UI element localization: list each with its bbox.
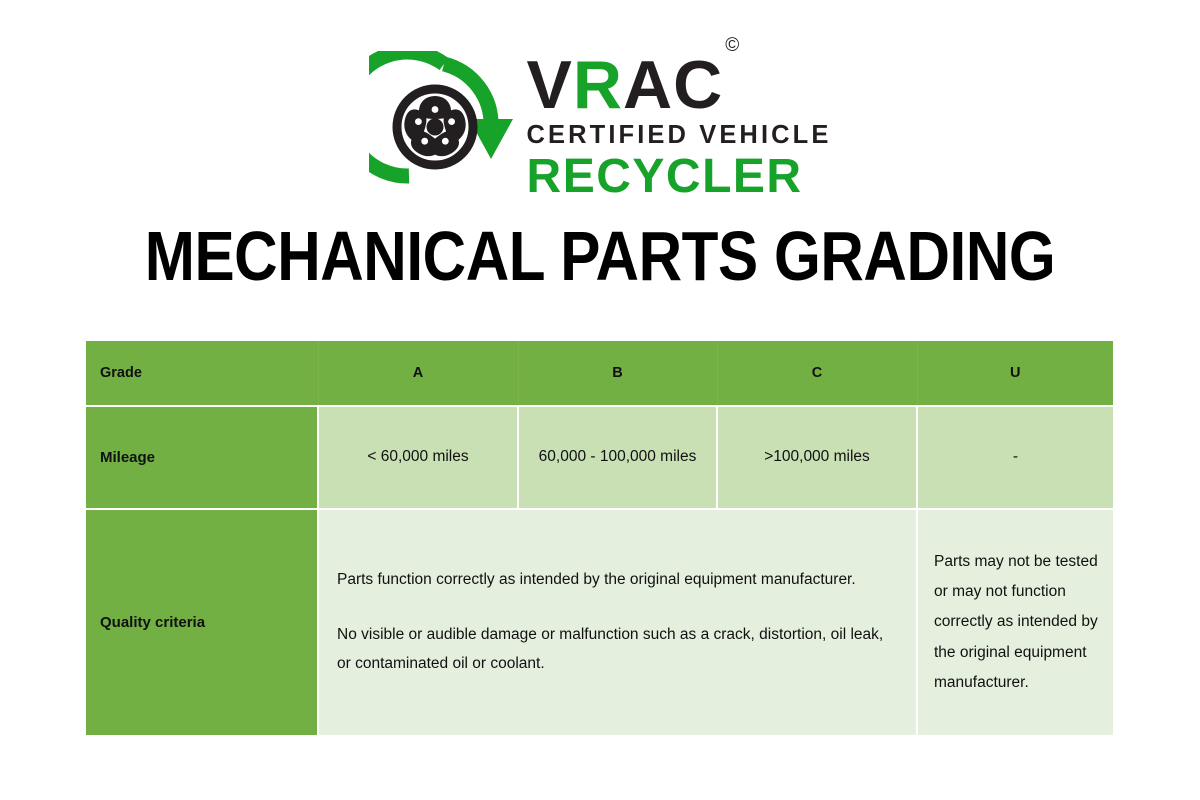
quality-u-text: Parts may not be tested or may not funct… [918, 547, 1113, 698]
table-row-quality-criteria: Quality criteria Parts function correctl… [86, 509, 1113, 735]
quality-paragraph-1: Parts function correctly as intended by … [337, 566, 898, 595]
row-label-quality-criteria: Quality criteria [86, 509, 318, 735]
quality-criteria-text: Parts function correctly as intended by … [319, 566, 916, 678]
logo-brand-ac: AC [623, 47, 723, 123]
logo-brand-r: R [573, 47, 623, 123]
column-header-c: C [717, 341, 917, 406]
page-title: MECHANICAL PARTS GRADING [84, 216, 1116, 296]
logo-recycler-word: RECYCLER [527, 153, 803, 201]
cell-mileage-c: >100,000 miles [717, 406, 917, 509]
table-header-row: Grade A B C U [86, 341, 1113, 406]
logo-tagline: CERTIFIED VEHICLE [527, 123, 832, 149]
cell-quality-abc: Parts function correctly as intended by … [318, 509, 917, 735]
table-row-mileage: Mileage < 60,000 miles 60,000 - 100,000 … [86, 406, 1113, 509]
logo-brand-name: VRAC© [527, 53, 739, 118]
logo-inner: VRAC© CERTIFIED VEHICLE RECYCLER [369, 51, 832, 201]
column-header-a: A [318, 341, 518, 406]
column-header-b: B [518, 341, 717, 406]
cell-mileage-b: 60,000 - 100,000 miles [518, 406, 717, 509]
column-header-grade: Grade [86, 341, 318, 406]
row-label-mileage: Mileage [86, 406, 318, 509]
quality-paragraph-2: No visible or audible damage or malfunct… [337, 621, 898, 678]
recycle-wheel-icon [369, 51, 519, 201]
column-header-u: U [917, 341, 1113, 406]
cell-mileage-a: < 60,000 miles [318, 406, 518, 509]
cell-quality-u: Parts may not be tested or may not funct… [917, 509, 1113, 735]
logo-brand-v: V [527, 47, 573, 123]
cell-mileage-u: - [917, 406, 1113, 509]
copyright-icon: © [725, 35, 740, 56]
mechanical-parts-grading-table: Grade A B C U Mileage < 60,000 miles 60,… [86, 341, 1113, 735]
brand-logo: VRAC© CERTIFIED VEHICLE RECYCLER [0, 46, 1200, 206]
logo-wordmark: VRAC© CERTIFIED VEHICLE RECYCLER [527, 51, 832, 200]
